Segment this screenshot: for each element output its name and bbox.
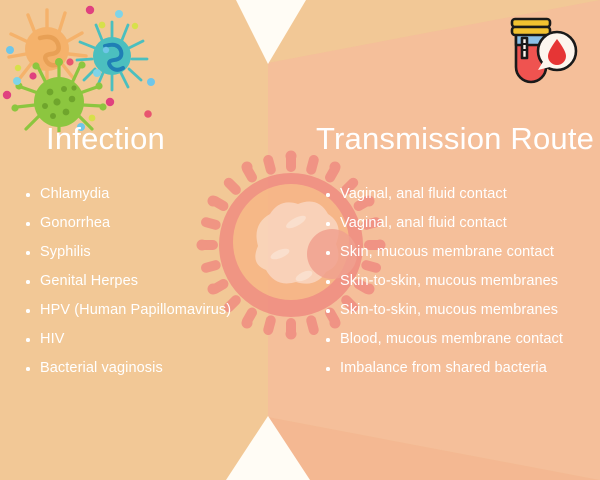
- blood-test-tube-icon: [500, 14, 582, 86]
- list-item: Chlamydia: [26, 180, 236, 209]
- list-item: HPV (Human Papillomavirus): [26, 296, 236, 325]
- list-item: Gonorrhea: [26, 209, 236, 238]
- list-item: Genital Herpes: [26, 267, 236, 296]
- list-item: Syphilis: [26, 238, 236, 267]
- column-header-transmission-route: Transmission Route: [316, 123, 594, 154]
- list-item: Blood, mucous membrane contact: [326, 325, 594, 354]
- list-item: Vaginal, anal fluid contact: [326, 209, 594, 238]
- germ-cluster-illustration: [2, 2, 167, 132]
- column-header-infection: Infection: [46, 123, 165, 154]
- list-item: HIV: [26, 325, 236, 354]
- list-item: Bacterial vaginosis: [26, 354, 236, 383]
- list-item: Skin-to-skin, mucous membranes: [326, 296, 594, 325]
- transmission-route-list: Vaginal, anal fluid contact Vaginal, ana…: [326, 180, 594, 383]
- list-item: Skin, mucous membrane contact: [326, 238, 594, 267]
- list-item: Vaginal, anal fluid contact: [326, 180, 594, 209]
- list-item: Skin-to-skin, mucous membranes: [326, 267, 594, 296]
- infection-list: Chlamydia Gonorrhea Syphilis Genital Her…: [26, 180, 236, 383]
- list-item: Imbalance from shared bacteria: [326, 354, 594, 383]
- infographic-poster: Infection Transmission Route Chlamydia G…: [0, 0, 600, 480]
